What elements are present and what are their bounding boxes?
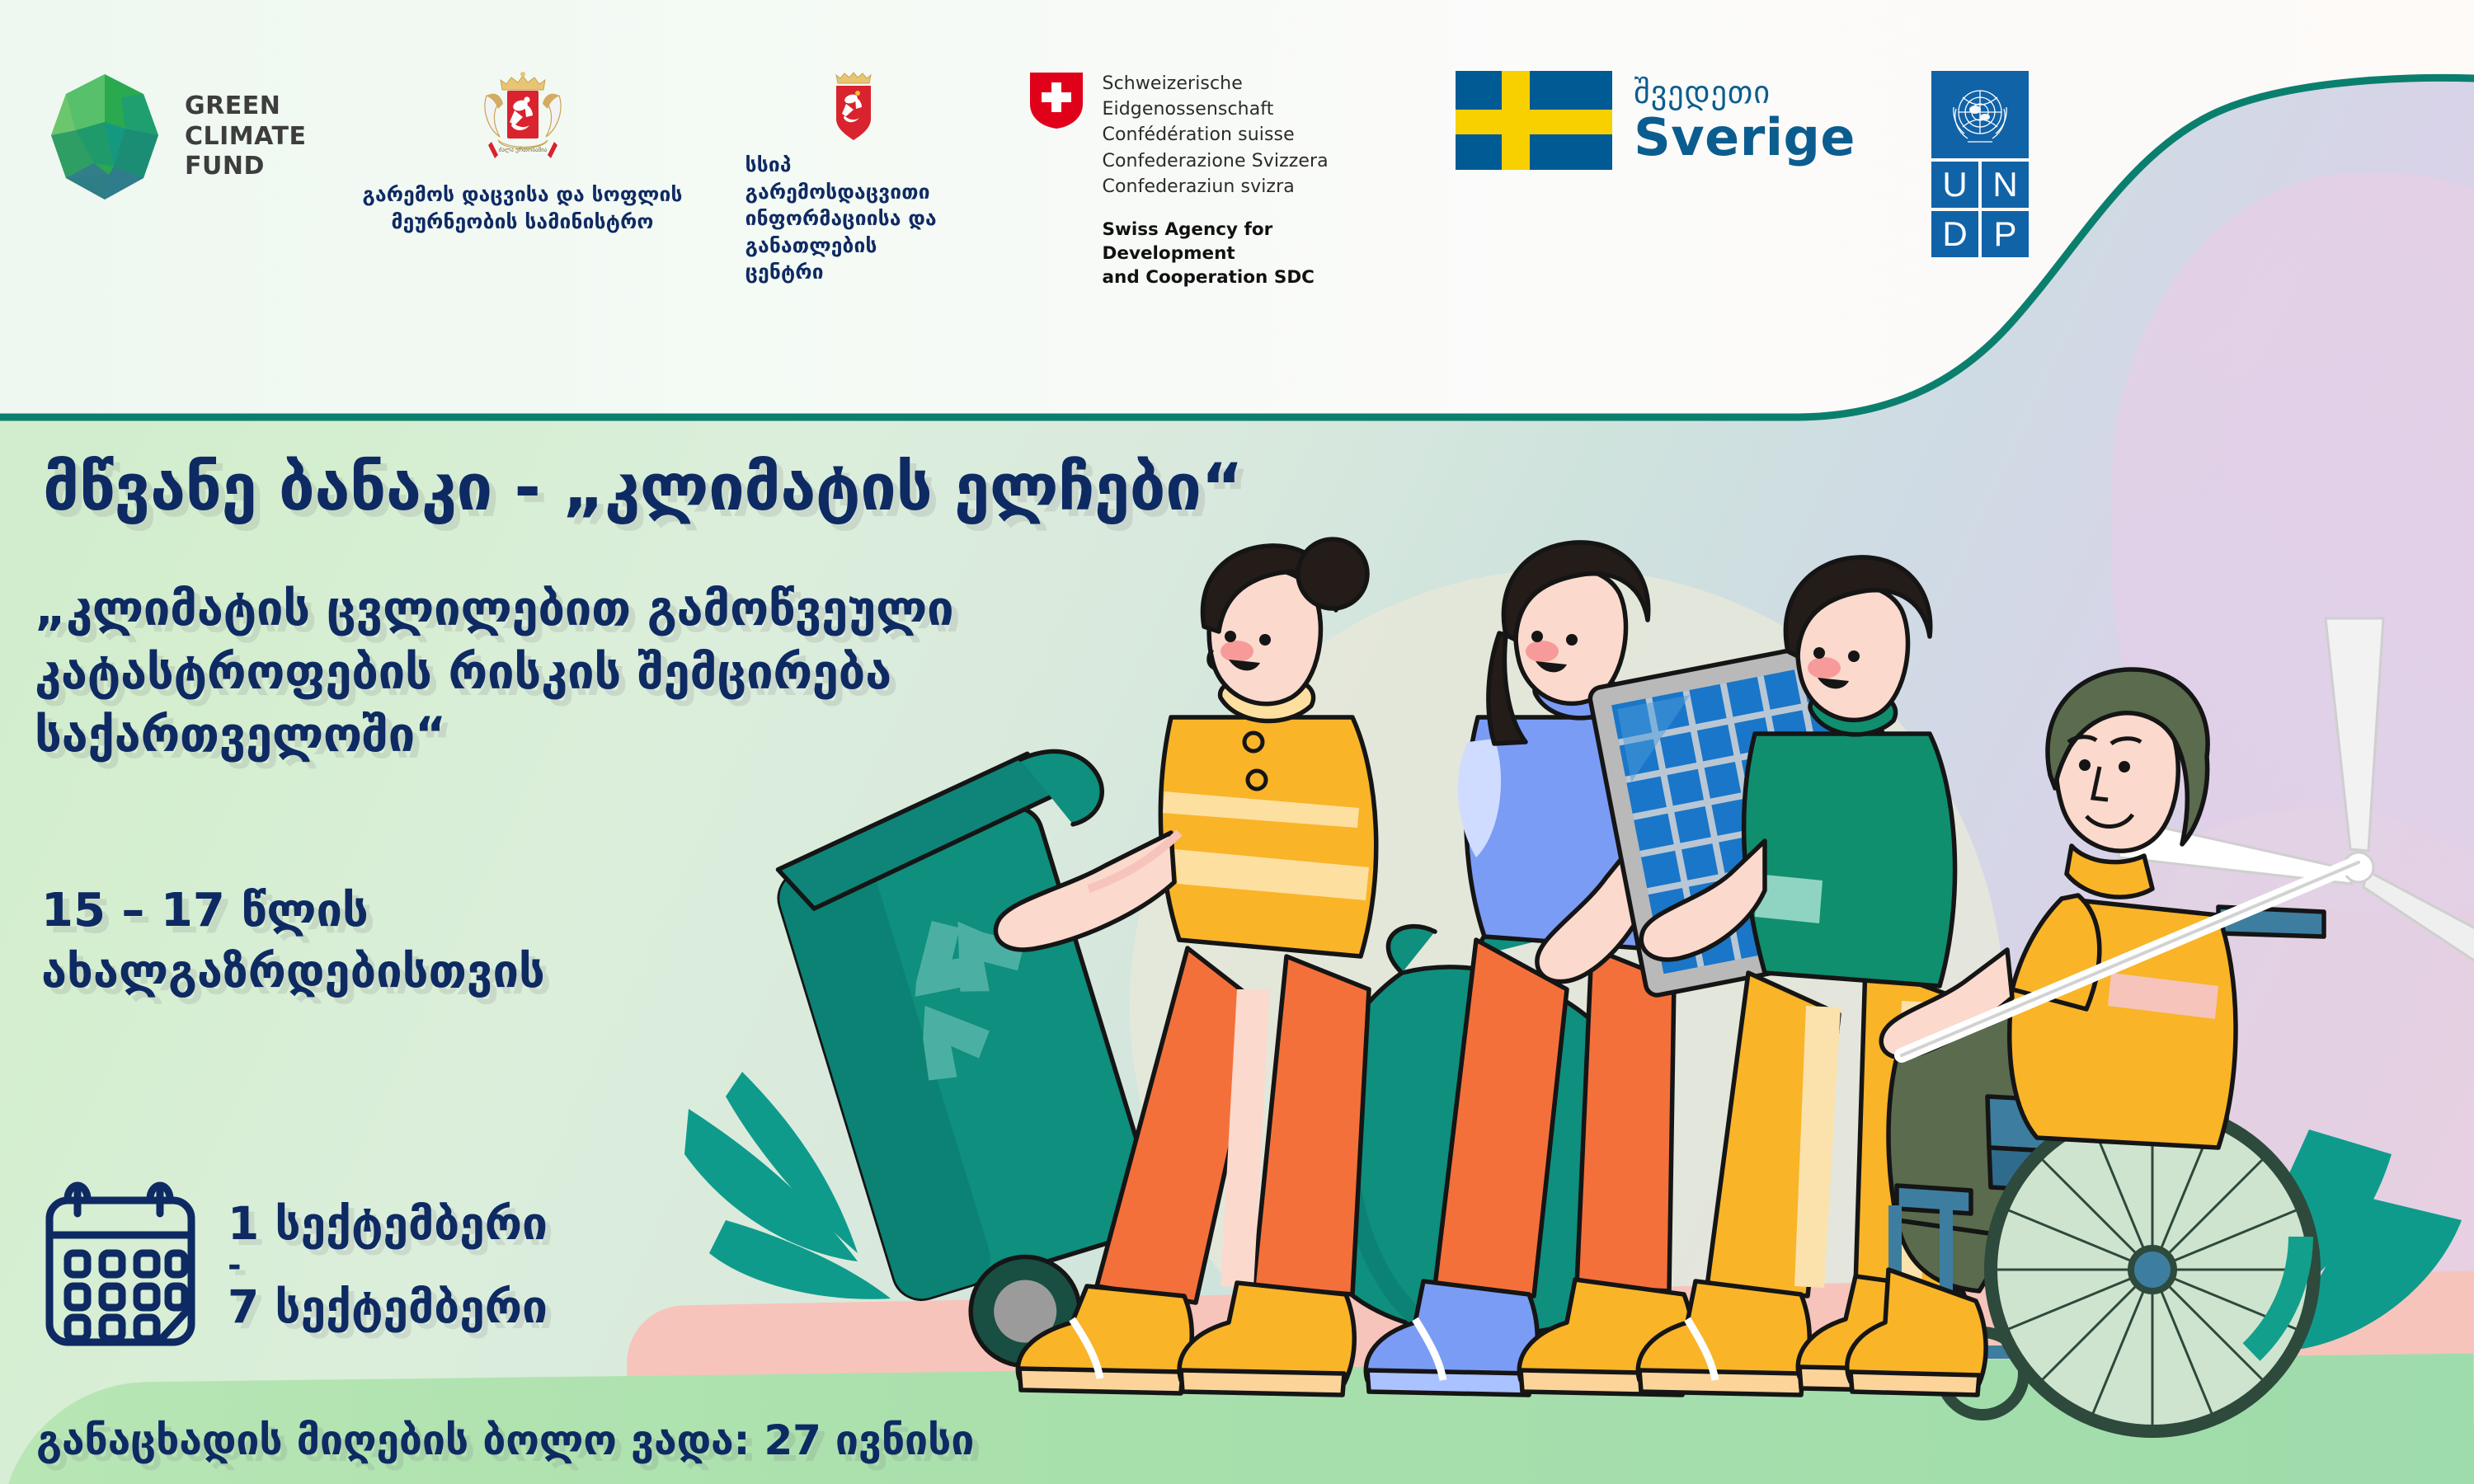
logo-green-climate-fund: GREEN CLIMATE FUND: [43, 71, 307, 203]
logo-undp: U N D P: [1931, 71, 2029, 257]
partner-logo-bar: GREEN CLIMATE FUND: [0, 0, 2029, 272]
age-line-1: 15 – 17 წლის: [41, 881, 545, 942]
application-deadline: განაცხადის მიღების ბოლო ვადა: 27 ივნისი: [36, 1416, 974, 1464]
subtitle-line-2: კატასტროფების რისკის შემცირება: [35, 641, 953, 704]
logo-sweden: შვედეთი Sverige: [1456, 71, 1855, 170]
svg-text:ძალა ერთობაშია: ძალა ერთობაშია: [498, 146, 547, 153]
georgian-shield-icon: [828, 71, 879, 140]
poster-root: GREEN CLIMATE FUND: [0, 0, 2474, 1484]
sdc-line-2: and Cooperation SDC: [1103, 265, 1385, 289]
gcf-line-2: CLIMATE: [185, 122, 307, 153]
page-title: მწვანე ბანაკი - „კლიმატის ელჩები“: [43, 455, 1243, 523]
camp-dates-block: 1 სექტემბერი - 7 სექტემბერი: [43, 1181, 548, 1350]
calendar-icon: [43, 1181, 198, 1350]
centre-wordmark: სსიპ გარემოსდაცვითი ინფორმაციისა და განა…: [745, 152, 962, 286]
undp-letter-d: D: [1931, 211, 1978, 257]
swiss-line-it: Confederazione Svizzera: [1103, 148, 1385, 174]
centre-line-1: სსიპ გარემოსდაცვითი: [745, 152, 962, 205]
undp-letter-p: P: [1982, 211, 2029, 257]
subtitle-line-1: „კლიმატის ცვლილებით გამოწვეული: [35, 577, 953, 641]
age-group-text: 15 – 17 წლის ახალგაზრდებისთვის: [41, 881, 545, 1003]
sweden-flag-icon: [1456, 71, 1612, 170]
gcf-line-3: FUND: [185, 152, 307, 182]
undp-letter-u: U: [1931, 162, 1978, 208]
swiss-line-fr: Confédération suisse: [1103, 122, 1385, 148]
date-separator: -: [228, 1251, 548, 1280]
subtitle-line-3: საქართველოში“: [35, 703, 953, 767]
un-emblem-icon: [1931, 71, 2029, 158]
green-climate-fund-icon: [43, 71, 167, 203]
ministry-wordmark: გარემოს დაცვისა და სოფლის მეურნეობის სამ…: [363, 181, 683, 235]
swiss-cross-shield-icon: [1028, 71, 1084, 130]
sweden-label-latin: Sverige: [1634, 111, 1855, 163]
logo-ministry-of-environment: ძალა ერთობაშია გარემოს დაცვისა და სოფლის…: [363, 71, 683, 235]
sdc-line-1: Swiss Agency for Development: [1103, 218, 1385, 265]
undp-letter-grid: U N D P: [1931, 162, 2029, 257]
georgian-coat-of-arms-icon: ძალა ერთობაშია: [470, 71, 576, 170]
logo-swiss-confederation: Schweizerische Eidgenossenschaft Confédé…: [1028, 71, 1385, 289]
camp-start-date: 1 სექტემბერი: [228, 1197, 548, 1251]
camp-date-range: 1 სექტემბერი - 7 სექტემბერი: [228, 1197, 548, 1334]
project-subtitle: „კლიმატის ცვლილებით გამოწვეული კატასტროფ…: [35, 577, 953, 767]
centre-line-3: განათლების ცენტრი: [745, 232, 962, 286]
swiss-sdc-name: Swiss Agency for Development and Coopera…: [1103, 218, 1385, 289]
green-climate-fund-wordmark: GREEN CLIMATE FUND: [185, 92, 307, 182]
swiss-line-rm: Confederaziun svizra: [1103, 174, 1385, 200]
sweden-label-georgian: შვედეთი: [1634, 77, 1855, 108]
undp-letter-n: N: [1982, 162, 2029, 208]
ministry-line-2: მეურნეობის სამინისტრო: [363, 209, 683, 236]
age-line-2: ახალგაზრდებისთვის: [41, 942, 545, 1003]
gcf-line-1: GREEN: [185, 92, 307, 122]
swiss-confederation-names: Schweizerische Eidgenossenschaft Confédé…: [1103, 71, 1385, 200]
camp-end-date: 7 სექტემბერი: [228, 1280, 548, 1334]
swiss-line-de: Schweizerische Eidgenossenschaft: [1103, 71, 1385, 122]
logo-environmental-education-centre: სსიპ გარემოსდაცვითი ინფორმაციისა და განა…: [745, 71, 962, 286]
centre-line-2: ინფორმაციისა და: [745, 205, 962, 232]
ministry-line-1: გარემოს დაცვისა და სოფლის: [363, 181, 683, 209]
